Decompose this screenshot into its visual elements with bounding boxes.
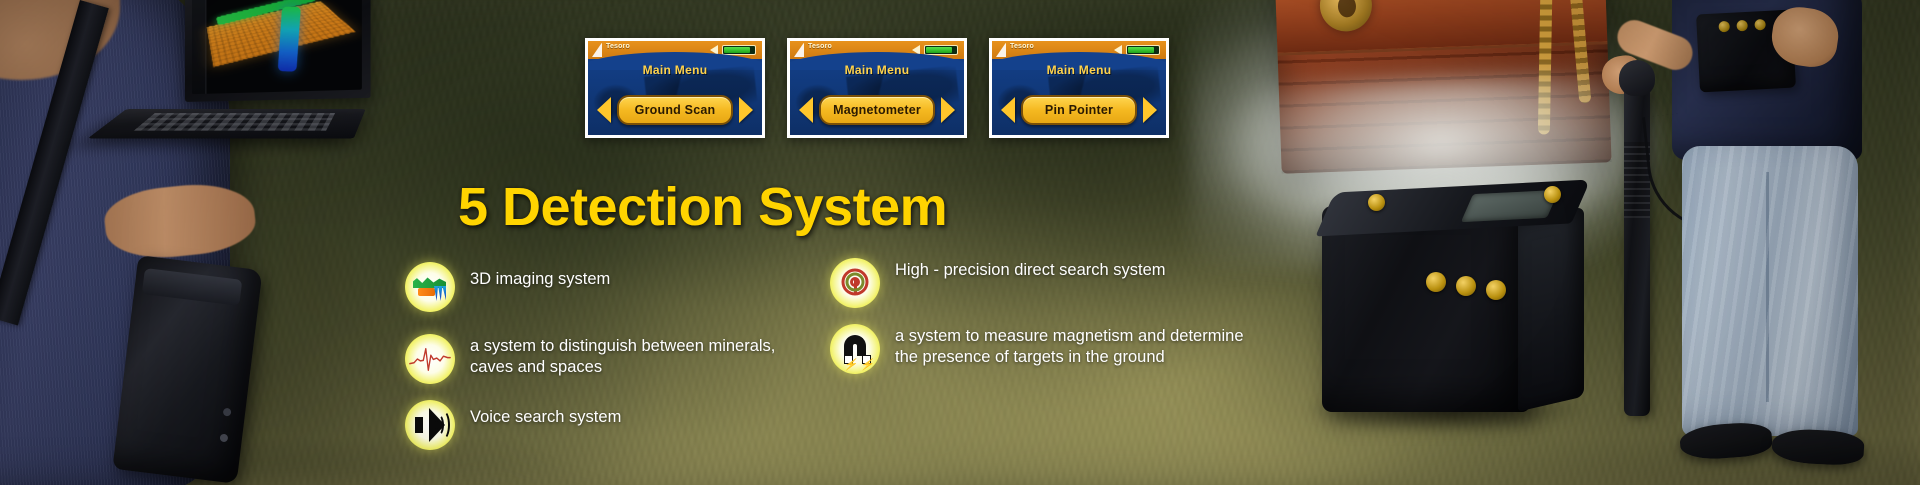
card-selector-row: Pin Pointer [992,95,1166,125]
menu-card-pin-pointer[interactable]: Tesoro Main Menu Pin Pointer [989,38,1169,138]
card-status-bar: Tesoro [992,41,1166,59]
brand-label: Tesoro [1010,43,1034,50]
card-status-bar: Tesoro [588,41,762,59]
card-selector-row: Magnetometer [790,95,964,125]
menu-card-ground-scan[interactable]: Tesoro Main Menu Ground Scan [585,38,765,138]
feature-item: ⚡⚡ a system to measure magnetism and det… [830,324,1260,374]
prev-arrow-icon[interactable] [799,97,813,123]
detector-main-unit [1322,188,1586,420]
mode-button[interactable]: Magnetometer [819,95,935,125]
mode-button[interactable]: Pin Pointer [1021,95,1137,125]
card-status-bar: Tesoro [790,41,964,59]
3d-terrain-icon [405,262,455,312]
next-arrow-icon[interactable] [941,97,955,123]
feature-item: 3D imaging system [405,262,805,312]
feature-label: 3D imaging system [470,262,610,290]
laptop-screen [192,0,362,94]
menu-card-group: Tesoro Main Menu Ground Scan Tesoro [585,38,1169,138]
device-knob-1 [1718,21,1730,33]
unit-top-knob-left [1368,194,1385,211]
speaker-icon [912,45,920,55]
menu-card-magnetometer[interactable]: Tesoro Main Menu Magnetometer [787,38,967,138]
brand-label: Tesoro [606,43,630,50]
battery-icon [1126,45,1160,55]
feature-label: a system to measure magnetism and determ… [895,324,1260,368]
card-title: Main Menu [588,63,762,77]
scan-blue-target-spike [278,6,301,71]
page-title: 5 Detection System [458,176,947,238]
magnet-icon: ⚡⚡ [830,324,880,374]
laptop [108,0,358,170]
unit-knob-1 [1426,272,1446,292]
jeans [1682,146,1858,436]
right-subject-person-with-probe [1586,0,1920,485]
speaker-icon [405,400,455,450]
device-knob-2 [1736,20,1748,32]
laptop-keyboard-base [88,109,366,138]
card-selector-row: Ground Scan [588,95,762,125]
prev-arrow-icon[interactable] [1001,97,1015,123]
promo-banner: Tesoro Main Menu Ground Scan Tesoro [0,0,1920,485]
laptop-lid [185,0,371,102]
feature-label: a system to distinguish between minerals… [470,334,805,378]
unit-knob-2 [1456,276,1476,296]
next-arrow-icon[interactable] [739,97,753,123]
battery-icon [722,45,756,55]
mode-button[interactable]: Ground Scan [617,95,733,125]
battery-icon [924,45,958,55]
brand-label: Tesoro [808,43,832,50]
feature-item: a system to distinguish between minerals… [405,334,805,384]
feature-list-left: 3D imaging system a system to distinguis… [405,262,805,466]
feature-item: Voice search system [405,400,805,450]
unit-side-panel [1518,206,1584,411]
prev-arrow-icon[interactable] [597,97,611,123]
waveform-icon [405,334,455,384]
unit-front-panel [1322,206,1530,412]
target-signal-icon [830,258,880,308]
card-title: Main Menu [790,63,964,77]
feature-label: Voice search system [470,400,621,428]
feature-list-right: High - precision direct search system ⚡⚡… [830,258,1260,390]
card-title: Main Menu [992,63,1166,77]
treasure-chest [1274,0,1611,174]
feature-label: High - precision direct search system [895,258,1166,281]
shoulder-bag [112,255,262,484]
speaker-icon [1114,45,1122,55]
keyboard-keys [134,113,335,131]
speaker-icon [710,45,718,55]
unit-knob-3 [1486,280,1506,300]
unit-top-knob-right [1544,186,1561,203]
next-arrow-icon[interactable] [1143,97,1157,123]
left-subject-person-with-laptop [0,0,380,485]
feature-item: High - precision direct search system [830,258,1260,308]
software-sidebar [192,0,206,94]
device-knob-3 [1754,19,1766,31]
